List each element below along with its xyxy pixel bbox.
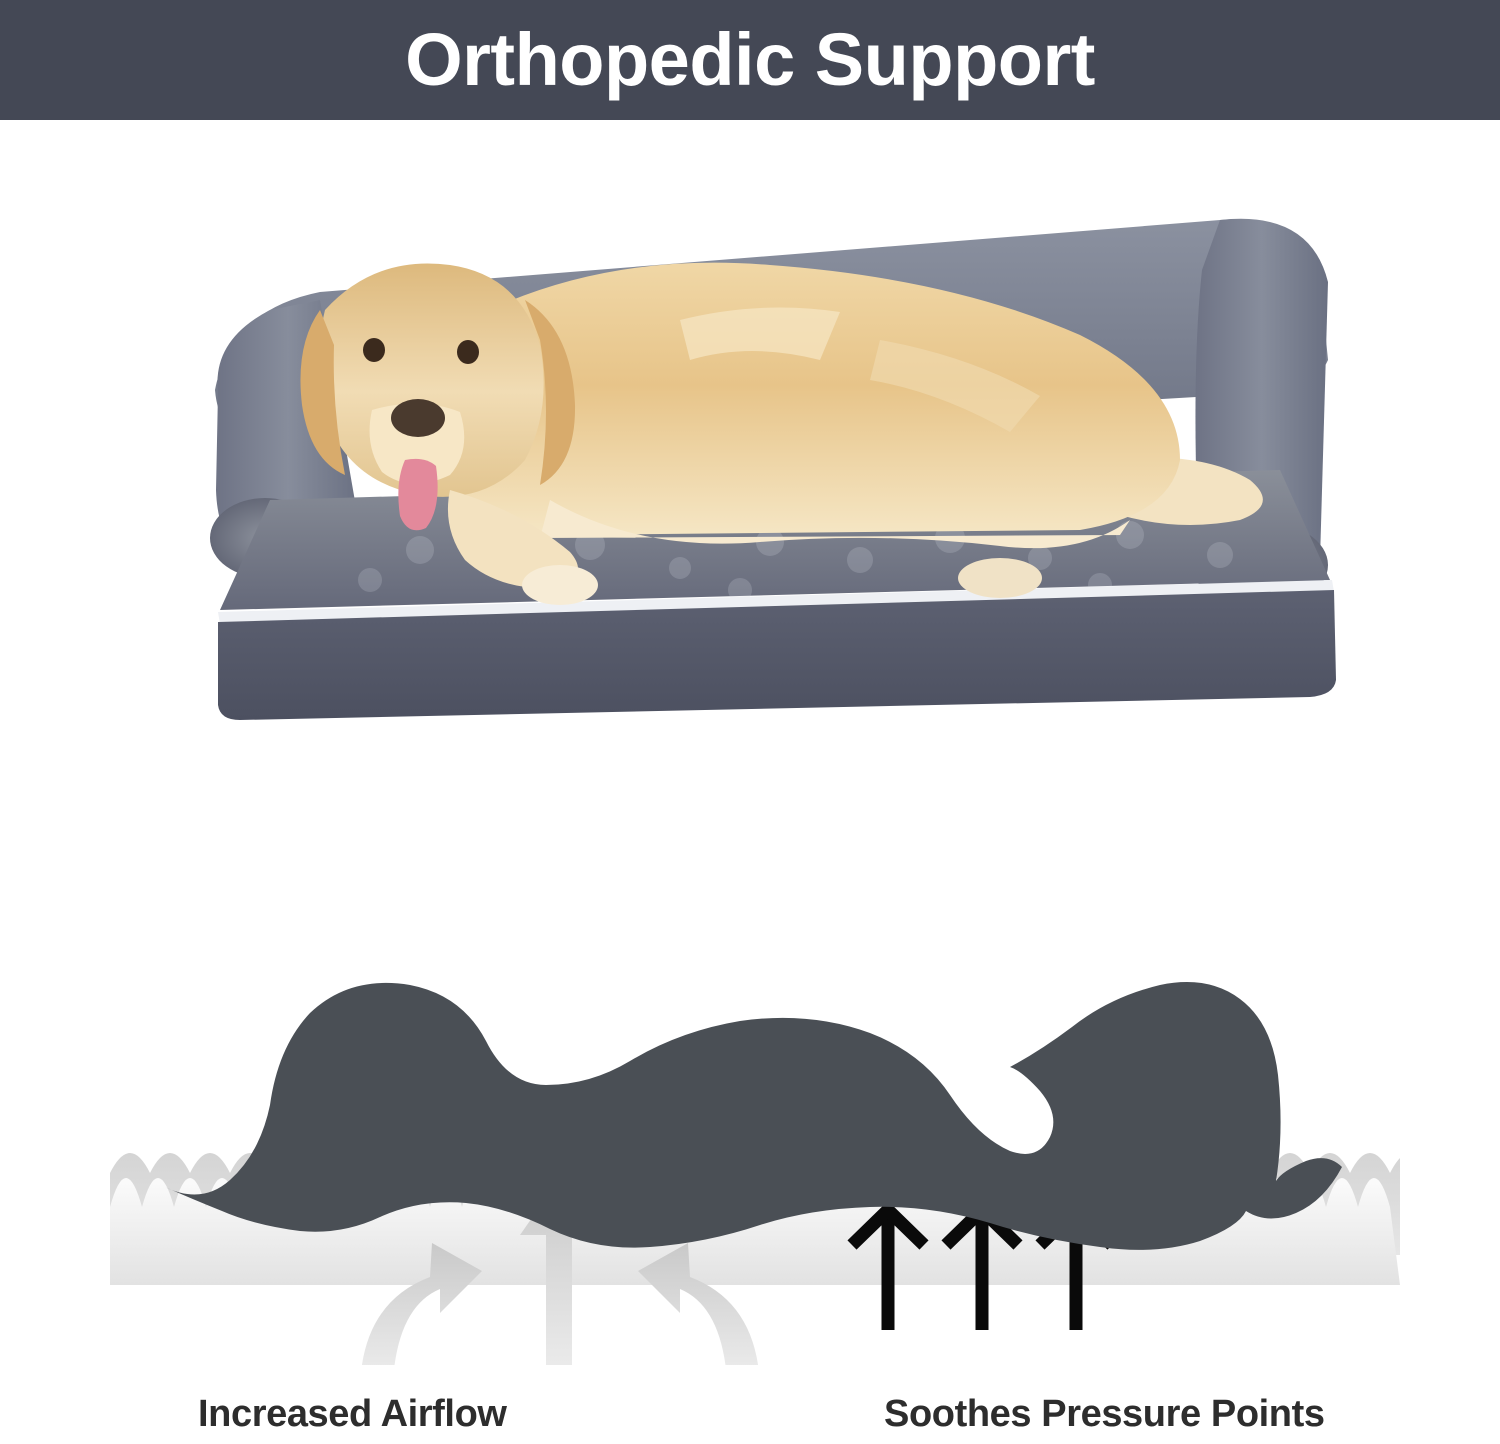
dog-bed-illustration	[120, 160, 1390, 720]
product-infographic-page: Orthopedic Support	[0, 0, 1500, 1444]
foam-diagram	[110, 955, 1400, 1365]
page-title: Orthopedic Support	[405, 23, 1095, 97]
hardness-scale: Too soft 1 Lack of support Moderate hard…	[0, 730, 1500, 930]
label-increased-airflow: Increased Airflow	[198, 1393, 507, 1436]
label-soothes-pressure-points: Soothes Pressure Points	[884, 1393, 1325, 1436]
product-photo	[120, 160, 1390, 720]
header-bar: Orthopedic Support	[0, 0, 1500, 120]
dog-lying-silhouette	[165, 982, 1342, 1250]
foam-cross-section-svg	[110, 955, 1400, 1365]
